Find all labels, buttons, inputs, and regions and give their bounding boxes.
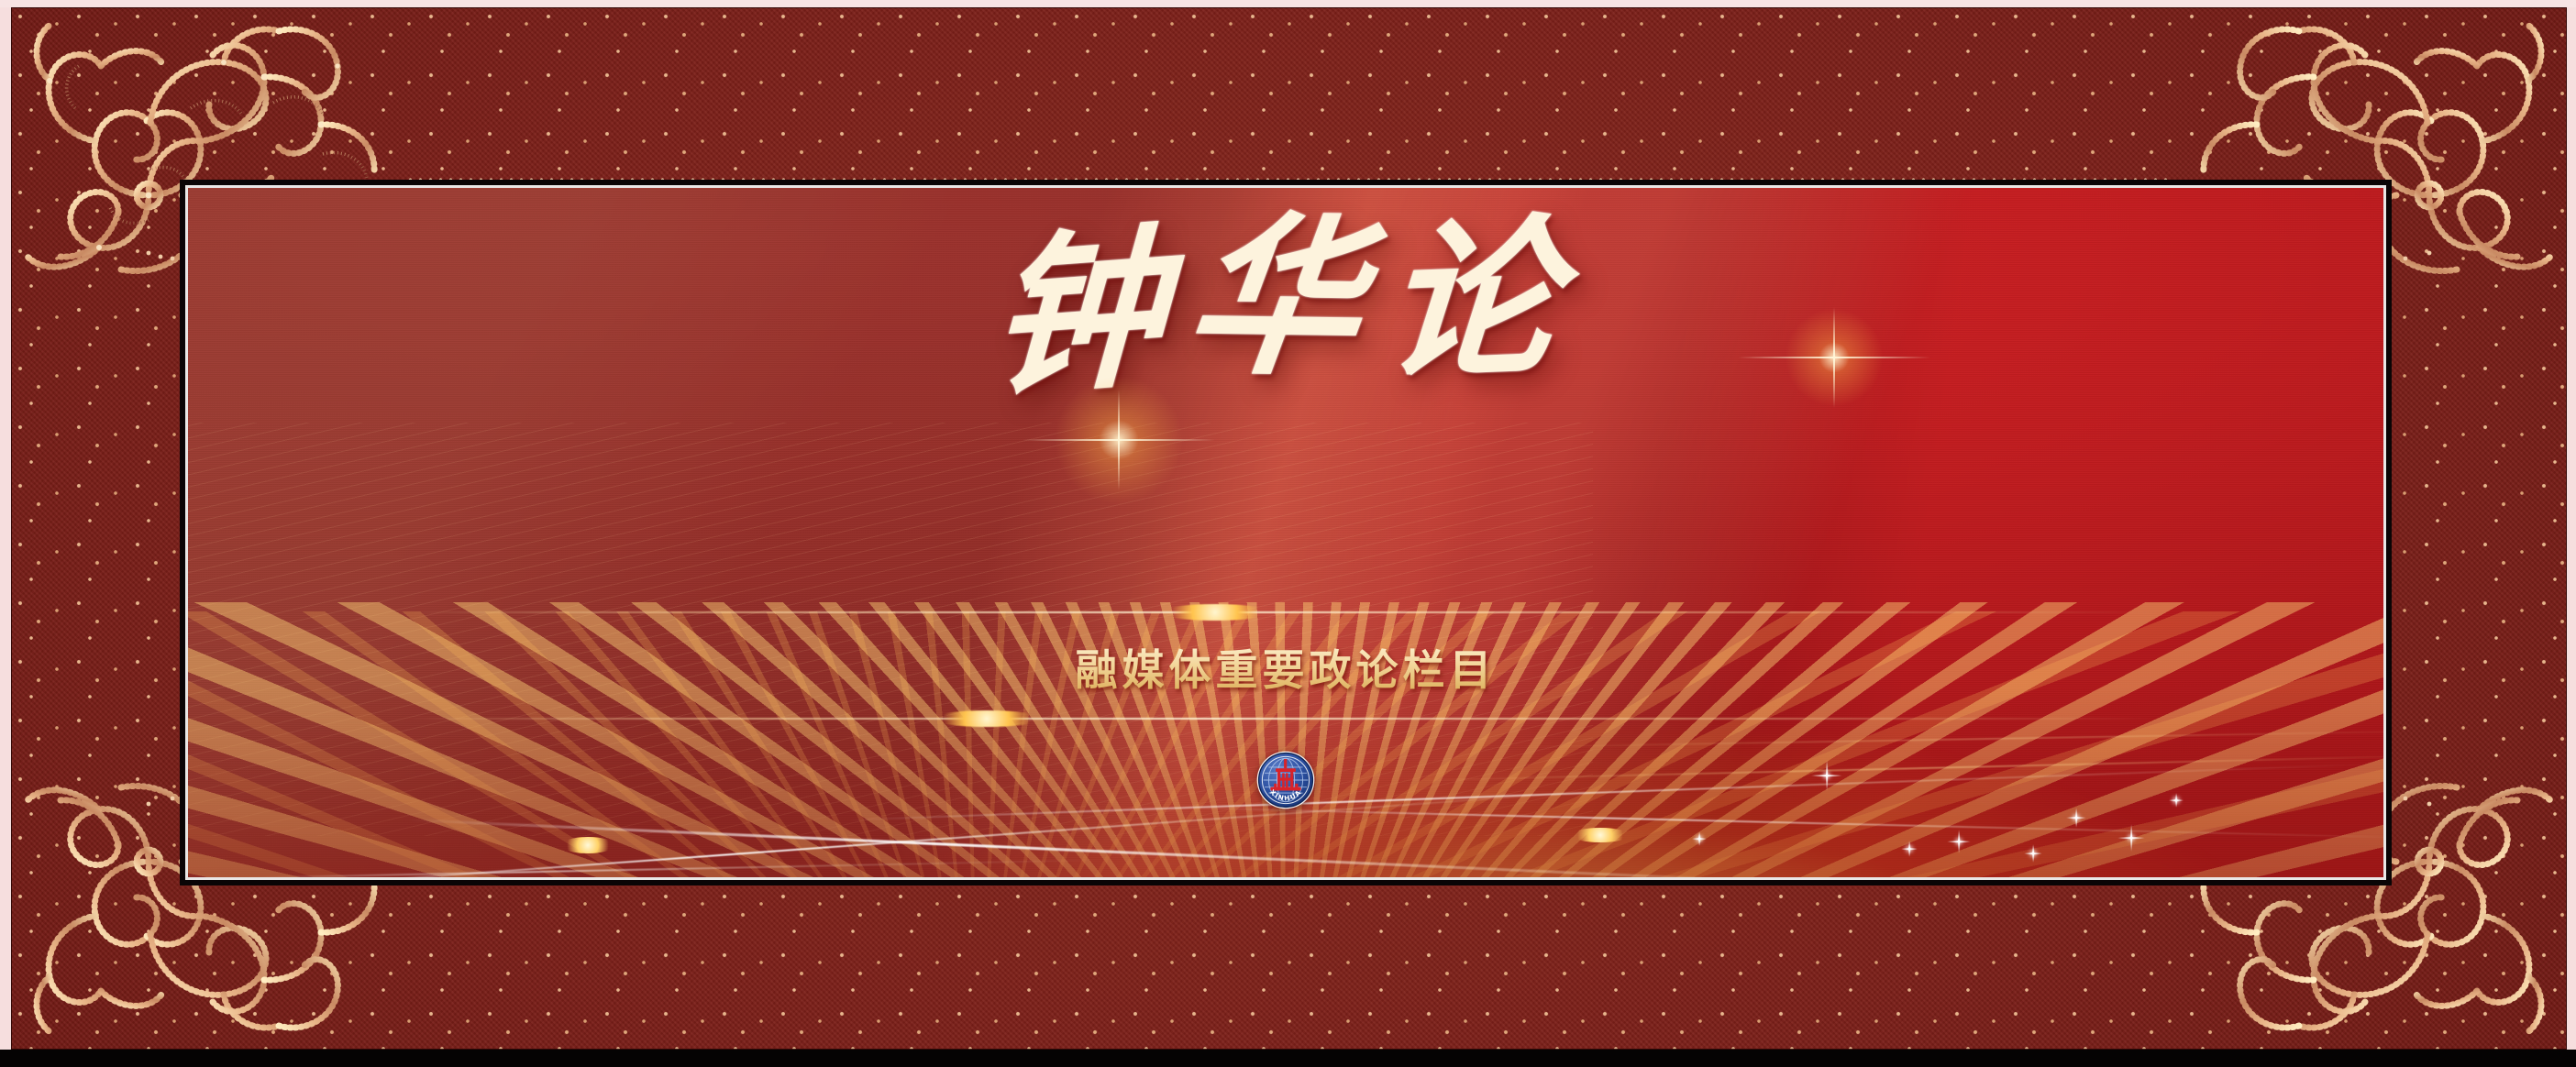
divider-flare-node: [1160, 604, 1270, 621]
divider-flare-node: [932, 710, 1042, 727]
bottom-black-bar: [0, 1050, 2576, 1067]
banner-artwork: 钟华论 融媒体重要政论栏目: [188, 188, 2383, 877]
xinhua-logo-icon[interactable]: XINHUA: [1256, 751, 1315, 809]
subtitle-divider-bottom: [407, 718, 2163, 720]
top-mat-strip: [0, 0, 2576, 7]
banner-subtitle: 融媒体重要政论栏目: [188, 637, 2383, 698]
banner-content: 钟华论 融媒体重要政论栏目: [188, 188, 2383, 877]
banner-stage: 钟华论 融媒体重要政论栏目: [0, 0, 2576, 1067]
inner-panel-silver-line: 钟华论 融媒体重要政论栏目: [185, 185, 2386, 880]
title-char-2: 华: [1178, 211, 1395, 386]
title-char-3: 论: [1378, 211, 1587, 390]
banner-title: 钟华论: [188, 194, 2383, 412]
title-char-1: 钟: [988, 220, 1190, 406]
subtitle-divider-top: [407, 611, 2163, 613]
inner-panel-frame: 钟华论 融媒体重要政论栏目: [180, 180, 2392, 885]
